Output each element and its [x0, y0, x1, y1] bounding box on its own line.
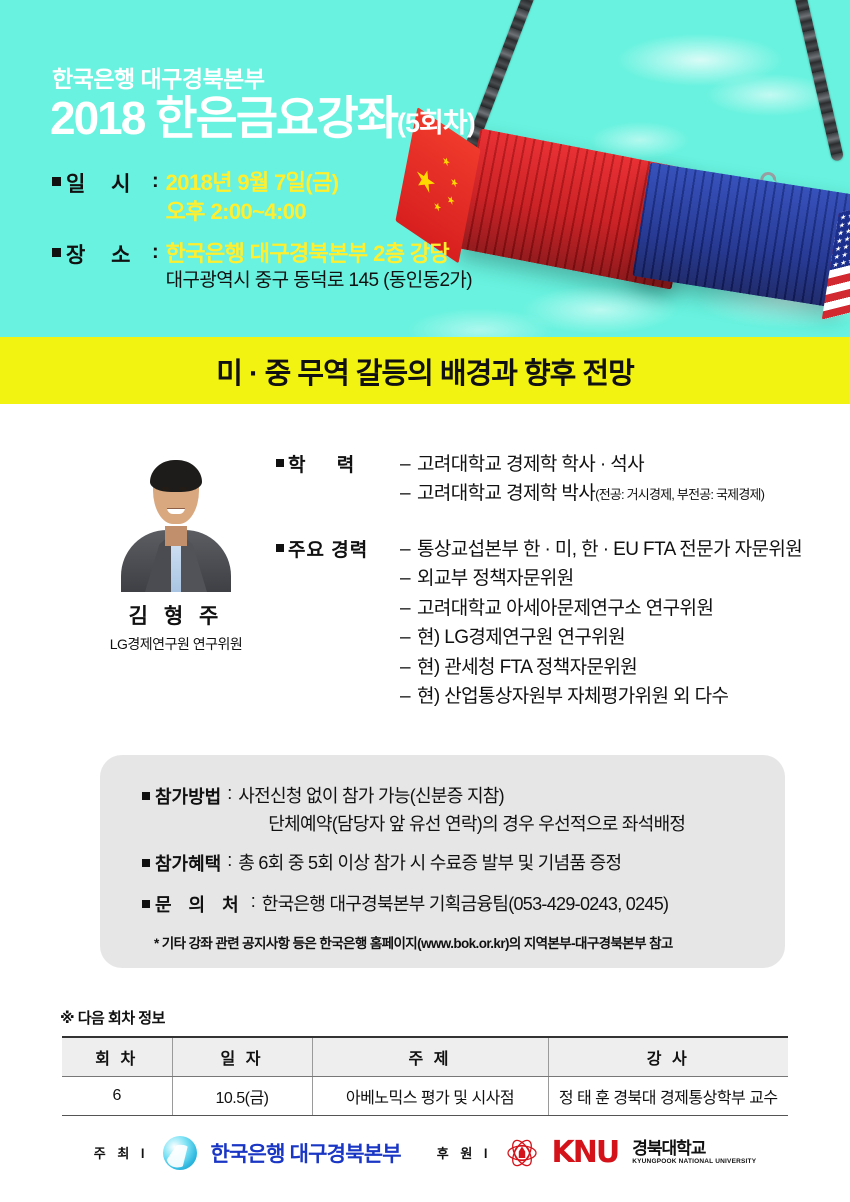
detail-label: 참가방법	[155, 783, 221, 809]
credential-item-text: 현) LG경제연구원 연구위원	[417, 627, 625, 648]
credential-item: –고려대학교 경제학 학사 · 석사	[400, 450, 836, 479]
credential-item: –현) 산업통상자원부 자체평가위원 외 다수	[400, 682, 836, 711]
credential-items: –통상교섭본부 한 · 미, 한 · EU FTA 전문가 자문위원 –외교부 …	[400, 535, 836, 712]
credential-group-career: 주요 경력 –통상교섭본부 한 · 미, 한 · EU FTA 전문가 자문위원…	[276, 535, 836, 712]
detail-value-secondary: 단체예약(담당자 앞 유선 연락)의 경우 우선적으로 좌석배정	[268, 810, 685, 836]
event-time: 오후 2:00~4:00	[166, 197, 339, 226]
detail-value: 총 6회 중 5회 이상 참가 시 수료증 발부 및 기념품 증정	[238, 850, 621, 877]
speaker-profile: 김 형 주 LG경제연구원 연구위원	[88, 440, 264, 654]
hero-section: ★ ★ ★ ★ ★ ★★★★★★★★★★★★★★★★★★★★★★★★★★★★★★…	[0, 0, 850, 337]
participation-details-box: 참가방법 : 사전신청 없이 참가 가능(신분증 지참) 단체예약(담당자 앞 …	[100, 755, 785, 968]
table-cell-round: 6	[62, 1077, 172, 1116]
host-name: 한국은행 대구경북본부	[211, 1138, 401, 1168]
venue-address: 대구광역시 중구 동덕로 145 (동인동2가)	[166, 268, 472, 293]
dash-marker: –	[400, 594, 417, 623]
credential-item: –통상교섭본부 한 · 미, 한 · EU FTA 전문가 자문위원	[400, 535, 836, 564]
credential-item: –고려대학교 아세아문제연구소 연구위원	[400, 594, 836, 623]
details-footnote: * 기타 강좌 관련 공지사항 등은 한국은행 홈페이지(www.bok.or.…	[154, 932, 785, 952]
detail-value: 사전신청 없이 참가 가능(신분증 지참)	[238, 783, 685, 810]
table-header-date: 일 자	[172, 1037, 312, 1077]
detail-label: 문 의 처	[155, 891, 245, 917]
credential-item-text: 고려대학교 경제학 박사	[417, 483, 595, 504]
credential-item-text: 외교부 정책자문위원	[417, 568, 574, 589]
table-header-lecturer: 강 사	[548, 1037, 788, 1077]
dash-marker: –	[400, 479, 417, 508]
event-info-colon: :	[152, 168, 159, 195]
footer-logos: 주 최 l 한국은행 대구경북본부 후 원 l KNU 경북대학교 KYUNGP…	[0, 1135, 850, 1170]
dash-marker: –	[400, 623, 417, 652]
credential-item: –외교부 정책자문위원	[400, 564, 836, 593]
page-title: 2018 한은금요강좌(5회차)	[50, 94, 475, 142]
sponsor-name-korean: 경북대학교	[632, 1140, 756, 1158]
knu-emblem-icon	[506, 1137, 538, 1169]
credential-heading: 주요 경력	[288, 535, 400, 562]
credential-item-text: 통상교섭본부 한 · 미, 한 · EU FTA 전문가 자문위원	[417, 539, 802, 560]
event-info-datetime: 일 시 : 2018년 9월 7일(금) 오후 2:00~4:00	[52, 168, 472, 226]
page-title-main: 2018 한은금요강좌	[50, 92, 397, 144]
detail-colon: :	[251, 891, 256, 912]
sponsor-tag: 후 원 l	[437, 1143, 492, 1162]
credential-item: –현) LG경제연구원 연구위원	[400, 623, 836, 652]
table-header-round: 회 차	[62, 1037, 172, 1077]
credential-heading: 학 력	[288, 450, 400, 477]
detail-row-benefit: 참가혜택 : 총 6회 중 5회 이상 참가 시 수료증 발부 및 기념품 증정	[142, 850, 785, 877]
portrait-hair	[150, 460, 202, 492]
event-info-label: 장 소	[66, 239, 152, 269]
table-cell-date: 10.5(금)	[172, 1077, 312, 1116]
dash-marker: –	[400, 564, 417, 593]
square-bullet-icon	[52, 248, 61, 257]
dash-marker: –	[400, 535, 417, 564]
credential-item-text: 고려대학교 아세아문제연구소 연구위원	[417, 598, 713, 619]
speaker-photo	[117, 440, 235, 592]
event-info-values: 2018년 9월 7일(금) 오후 2:00~4:00	[166, 168, 339, 226]
next-session-table: 회 차 일 자 주 제 강 사 6 10.5(금) 아베노믹스 평가 및 시사점…	[62, 1036, 788, 1116]
detail-colon: :	[227, 783, 232, 804]
bank-of-korea-logo-icon	[163, 1136, 197, 1170]
lecture-topic-text: 미 · 중 무역 갈등의 배경과 향후 전망	[216, 350, 634, 392]
square-bullet-icon	[142, 900, 150, 908]
page-title-round: (5회차)	[397, 108, 475, 138]
square-bullet-icon	[276, 544, 284, 552]
table-row: 6 10.5(금) 아베노믹스 평가 및 시사점 정 태 훈 경북대 경제통상학…	[62, 1077, 788, 1116]
sponsor-name-english: KYUNGPOOK NATIONAL UNIVERSITY	[632, 1158, 756, 1165]
sponsor-abbreviation: KNU	[552, 1135, 619, 1170]
event-info-colon: :	[152, 239, 159, 266]
detail-value: 한국은행 대구경북본부 기획금융팀(053-429-0243, 0245)	[262, 891, 669, 918]
detail-label: 참가혜택	[155, 850, 221, 876]
detail-row-method: 참가방법 : 사전신청 없이 참가 가능(신분증 지참) 단체예약(담당자 앞 …	[142, 783, 785, 836]
speaker-credentials: 학 력 –고려대학교 경제학 학사 · 석사 –고려대학교 경제학 박사(전공:…	[276, 450, 836, 738]
dash-marker: –	[400, 682, 417, 711]
portrait-neck	[165, 526, 187, 546]
venue-name: 한국은행 대구경북본부 2층 강당	[166, 239, 472, 268]
event-info-block: 일 시 : 2018년 9월 7일(금) 오후 2:00~4:00 장 소 : …	[52, 168, 472, 306]
square-bullet-icon	[142, 859, 150, 867]
table-cell-topic: 아베노믹스 평가 및 시사점	[312, 1077, 548, 1116]
credential-item: –고려대학교 경제학 박사(전공: 거시경제, 부전공: 국제경제)	[400, 479, 836, 508]
table-cell-lecturer: 정 태 훈 경북대 경제통상학부 교수	[548, 1077, 788, 1116]
credential-item-note: (전공: 거시경제, 부전공: 국제경제)	[595, 487, 764, 502]
usa-flag-face: ★★★★★★★★★★★★★★★★★★★★★★★★★★★★★★★★★★★★★★★★…	[822, 192, 850, 319]
event-info-values: 한국은행 대구경북본부 2층 강당 대구광역시 중구 동덕로 145 (동인동2…	[166, 239, 472, 293]
square-bullet-icon	[52, 177, 61, 186]
square-bullet-icon	[142, 792, 150, 800]
event-info-label: 일 시	[66, 168, 152, 198]
event-info-venue: 장 소 : 한국은행 대구경북본부 2층 강당 대구광역시 중구 동덕로 145…	[52, 239, 472, 293]
detail-values: 사전신청 없이 참가 가능(신분증 지참) 단체예약(담당자 앞 유선 연락)의…	[238, 783, 685, 836]
portrait-eye-right	[179, 487, 187, 490]
detail-row-contact: 문 의 처 : 한국은행 대구경북본부 기획금융팀(053-429-0243, …	[142, 891, 785, 918]
credential-item-text: 현) 산업통상자원부 자체평가위원 외 다수	[417, 686, 728, 707]
square-bullet-icon	[276, 459, 284, 467]
credential-item-text: 현) 관세청 FTA 정책자문위원	[417, 657, 637, 678]
event-date: 2018년 9월 7일(금)	[166, 168, 339, 197]
usa-flag-canton: ★★★★★★★★★★★★★★★★★★★★★★★★★★★★★★★★★★★★★★★★…	[830, 202, 850, 270]
credential-item-text: 고려대학교 경제학 학사 · 석사	[417, 454, 644, 475]
credential-item: –현) 관세청 FTA 정책자문위원	[400, 653, 836, 682]
dash-marker: –	[400, 450, 417, 479]
dash-marker: –	[400, 653, 417, 682]
next-session-caption: ※ 다음 회차 정보	[60, 1007, 165, 1028]
host-tag: 주 최 l	[94, 1143, 149, 1162]
credential-group-education: 학 력 –고려대학교 경제학 학사 · 석사 –고려대학교 경제학 박사(전공:…	[276, 450, 836, 509]
speaker-name: 김 형 주	[88, 600, 264, 630]
sponsor-name-block: 경북대학교 KYUNGPOOK NATIONAL UNIVERSITY	[632, 1140, 756, 1165]
chain-right	[793, 0, 844, 162]
credential-items: –고려대학교 경제학 학사 · 석사 –고려대학교 경제학 박사(전공: 거시경…	[400, 450, 836, 509]
detail-colon: :	[227, 850, 232, 871]
hero-organization: 한국은행 대구경북본부	[52, 60, 265, 94]
table-header-row: 회 차 일 자 주 제 강 사	[62, 1037, 788, 1077]
speaker-affiliation: LG경제연구원 연구위원	[88, 634, 264, 654]
lecture-topic-banner: 미 · 중 무역 갈등의 배경과 향후 전망	[0, 337, 850, 404]
table-header-topic: 주 제	[312, 1037, 548, 1077]
portrait-eye-left	[162, 487, 170, 490]
